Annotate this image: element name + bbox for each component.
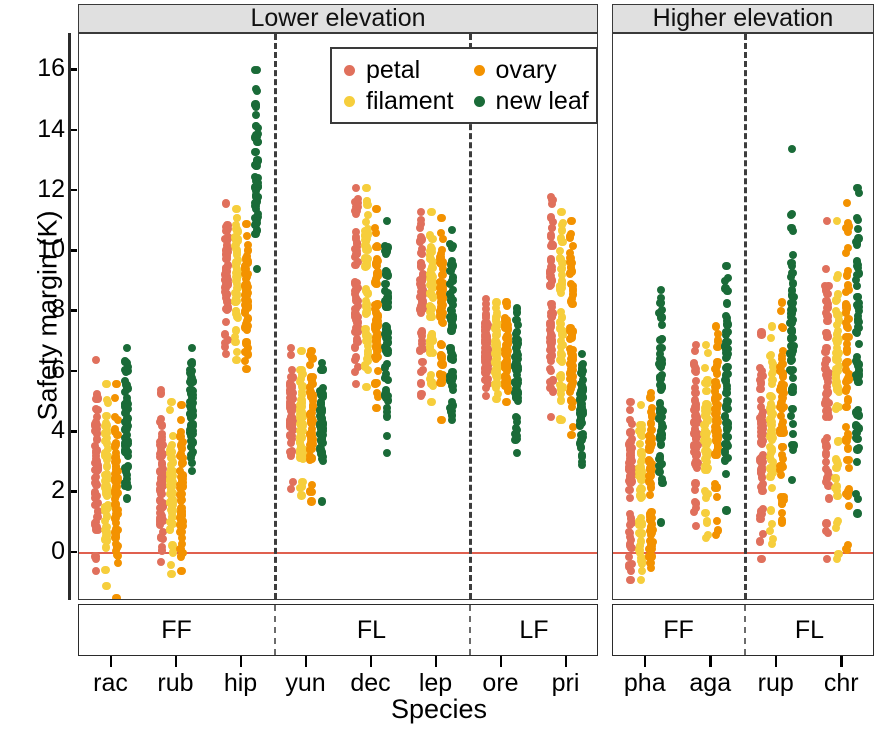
data-point [821, 348, 829, 356]
data-point [438, 360, 446, 368]
data-point [546, 269, 554, 277]
data-point [252, 219, 260, 227]
data-point [787, 259, 795, 267]
x-tick-label-dec: dec [350, 670, 390, 696]
legend-item-new-leaf[interactable]: new leaf [474, 86, 589, 116]
data-point [103, 439, 111, 447]
data-point [223, 225, 231, 233]
data-point [723, 299, 731, 307]
data-point [758, 482, 766, 490]
data-point [383, 432, 391, 440]
data-point [92, 567, 100, 575]
data-point [167, 561, 175, 569]
data-point [372, 205, 380, 213]
data-point [178, 519, 186, 527]
data-point [437, 416, 445, 424]
y-tick-label: 0 [19, 539, 65, 564]
data-point [372, 333, 380, 341]
legend-label: ovary [496, 55, 557, 85]
data-point [383, 217, 391, 225]
data-point [853, 237, 861, 245]
legend-item-ovary[interactable]: ovary [474, 55, 589, 85]
x-tick-mark [435, 656, 438, 667]
data-point [112, 594, 120, 600]
data-point [167, 570, 175, 578]
data-point [502, 298, 510, 306]
y-tick-label: 12 [19, 177, 65, 202]
data-point [428, 235, 436, 243]
data-point [768, 446, 776, 454]
data-point [188, 467, 196, 475]
data-point [832, 524, 840, 532]
data-point [297, 421, 305, 429]
data-point [833, 457, 841, 465]
data-point [317, 390, 325, 398]
data-point [166, 406, 174, 414]
data-point [221, 330, 229, 338]
data-point [158, 490, 166, 498]
data-point [93, 406, 101, 414]
data-point [557, 208, 565, 216]
data-point [287, 344, 295, 352]
data-point [513, 328, 521, 336]
data-point [123, 384, 131, 392]
data-point [722, 470, 730, 478]
data-point [658, 475, 666, 483]
data-point [189, 438, 197, 446]
data-point [288, 395, 296, 403]
data-point [645, 443, 653, 451]
data-point [373, 255, 381, 263]
data-point [833, 385, 841, 393]
data-point [855, 340, 863, 348]
data-point [843, 271, 851, 279]
data-point [177, 567, 185, 575]
data-point [101, 504, 109, 512]
data-point [102, 523, 110, 531]
data-point [853, 509, 861, 517]
data-point [844, 397, 852, 405]
data-point [638, 567, 646, 575]
data-point [789, 227, 797, 235]
data-point [767, 334, 775, 342]
data-point [318, 497, 326, 505]
legend-item-petal[interactable]: petal [344, 55, 454, 85]
data-point [382, 250, 390, 258]
chart-figure: Safety margin (K) 0246810121416 Lower el… [0, 0, 878, 732]
data-point [372, 404, 380, 412]
data-point [637, 492, 645, 500]
data-point [492, 395, 500, 403]
data-point [713, 493, 721, 501]
data-point [844, 444, 852, 452]
data-point [384, 376, 392, 384]
data-point [701, 364, 709, 372]
data-point [711, 484, 719, 492]
data-point [556, 318, 564, 326]
data-point [766, 352, 774, 360]
data-point [756, 515, 764, 523]
data-point [626, 494, 634, 502]
data-point [722, 262, 730, 270]
data-point [568, 267, 576, 275]
data-point [224, 261, 232, 269]
data-point [253, 66, 261, 74]
data-point [569, 242, 577, 250]
data-point [567, 297, 575, 305]
data-point [437, 214, 445, 222]
data-point [448, 350, 456, 358]
x-tick-label-hip: hip [224, 670, 257, 696]
data-point [417, 288, 425, 296]
data-point [417, 392, 425, 400]
data-point [383, 449, 391, 457]
data-point [416, 224, 424, 232]
data-point [834, 290, 842, 298]
data-point [647, 389, 655, 397]
data-point [287, 373, 295, 381]
data-point [439, 260, 447, 268]
data-point [361, 241, 369, 249]
x-tick-label-rup: rup [758, 670, 794, 696]
x-tick-mark [110, 656, 113, 667]
x-tick-label-rub: rub [157, 670, 193, 696]
data-point [853, 458, 861, 466]
data-point [158, 421, 166, 429]
data-point [418, 245, 426, 253]
data-point [177, 401, 185, 409]
data-point [789, 306, 797, 314]
data-point [352, 209, 360, 217]
data-point [547, 413, 555, 421]
data-point [157, 437, 165, 445]
data-point [777, 307, 785, 315]
data-point [759, 505, 767, 513]
data-point [354, 338, 362, 346]
data-point [242, 338, 250, 346]
data-point [111, 533, 119, 541]
data-point [178, 454, 186, 462]
data-point [768, 484, 776, 492]
data-point [843, 384, 851, 392]
x-tick-label-rac: rac [93, 670, 128, 696]
data-point [713, 451, 721, 459]
data-point [94, 394, 102, 402]
data-point [157, 534, 165, 542]
legend-swatch-petal-icon [344, 65, 355, 76]
facet-strip-label: Lower elevation [78, 4, 598, 33]
data-point [92, 555, 100, 563]
data-point [647, 523, 655, 531]
data-point [437, 292, 445, 300]
data-point [317, 450, 325, 458]
legend-label: filament [366, 86, 454, 116]
data-point [835, 349, 843, 357]
data-point [428, 330, 436, 338]
data-point [704, 437, 712, 445]
data-point [578, 381, 586, 389]
data-point [427, 398, 435, 406]
data-point [438, 341, 446, 349]
data-point [757, 466, 765, 474]
data-point [481, 323, 489, 331]
data-point [121, 377, 129, 385]
data-point [547, 323, 555, 331]
data-point [157, 558, 165, 566]
data-point [449, 386, 457, 394]
x-tick-label-aga: aga [689, 670, 731, 696]
data-point [757, 420, 765, 428]
x-tick-mark [305, 656, 308, 667]
data-point [692, 341, 700, 349]
data-point [244, 350, 252, 358]
data-point [513, 449, 521, 457]
data-point [188, 360, 196, 368]
data-point [296, 448, 304, 456]
data-point [231, 338, 239, 346]
x-tick-mark [709, 656, 712, 667]
x-tick-mark [370, 656, 373, 667]
legend-swatch-new-leaf-icon [474, 96, 485, 107]
data-point [778, 451, 786, 459]
data-point [768, 520, 776, 528]
data-point [513, 304, 521, 312]
data-point [502, 398, 510, 406]
data-point [658, 359, 666, 367]
data-point [417, 262, 425, 270]
data-point [822, 329, 830, 337]
data-point [843, 199, 851, 207]
data-point [242, 365, 250, 373]
data-point [833, 274, 841, 282]
data-point [845, 222, 853, 230]
data-point [834, 438, 842, 446]
data-point [567, 217, 575, 225]
data-point [384, 338, 392, 346]
x-tick-label-pha: pha [624, 670, 666, 696]
facet-strip-label: Higher elevation [612, 4, 874, 33]
data-point [362, 310, 370, 318]
data-point [626, 406, 634, 414]
data-point [724, 423, 732, 431]
data-point [658, 423, 666, 431]
data-point [757, 328, 765, 336]
data-point [253, 265, 261, 273]
data-point [569, 282, 577, 290]
data-point [722, 312, 730, 320]
data-point [757, 555, 765, 563]
data-point [853, 329, 861, 337]
data-point [822, 519, 830, 527]
y-tick-label: 2 [19, 478, 65, 503]
data-point [252, 148, 260, 156]
data-point [308, 454, 316, 462]
data-point [121, 425, 129, 433]
data-point [657, 440, 665, 448]
data-point [176, 491, 184, 499]
data-point [790, 441, 798, 449]
data-point [569, 355, 577, 363]
data-point [102, 582, 110, 590]
data-point [448, 226, 456, 234]
data-point [768, 540, 776, 548]
data-point [723, 320, 731, 328]
data-point [768, 322, 776, 330]
data-point [834, 338, 842, 346]
legend-swatch-ovary-icon [474, 65, 485, 76]
legend-item-filament[interactable]: filament [344, 86, 454, 116]
data-point [831, 484, 839, 492]
data-point [566, 232, 574, 240]
data-point [416, 305, 424, 313]
data-point [778, 518, 786, 526]
data-point [547, 357, 555, 365]
data-point [383, 412, 391, 420]
data-point [512, 316, 520, 324]
data-point [702, 450, 710, 458]
data-point [374, 313, 382, 321]
data-point [188, 403, 196, 411]
data-point [788, 385, 796, 393]
data-point [253, 180, 261, 188]
data-point [658, 335, 666, 343]
data-point [854, 225, 862, 233]
data-point [822, 356, 830, 364]
data-point [101, 566, 109, 574]
data-point [253, 159, 261, 167]
data-point [297, 491, 305, 499]
data-point [502, 350, 510, 358]
data-point [788, 326, 796, 334]
data-point [834, 517, 842, 525]
data-point [427, 208, 435, 216]
data-point [222, 350, 230, 358]
data-point [657, 286, 665, 294]
data-point [832, 373, 840, 381]
data-point [418, 358, 426, 366]
data-point [776, 462, 784, 470]
data-point [307, 374, 315, 382]
data-point [94, 464, 102, 472]
data-point [232, 205, 240, 213]
data-point [626, 576, 634, 584]
data-point [252, 111, 260, 119]
y-tick-label: 8 [19, 297, 65, 322]
x-tick-label-chr: chr [824, 670, 859, 696]
data-point [382, 270, 390, 278]
data-point [354, 297, 362, 305]
data-point [111, 394, 119, 402]
data-point [854, 318, 862, 326]
x-tick-mark [240, 656, 243, 667]
data-point [723, 363, 731, 371]
data-point [824, 406, 832, 414]
data-point [253, 193, 261, 201]
plot-panel [612, 33, 874, 600]
legend-swatch-filament-icon [344, 96, 355, 107]
data-point [287, 351, 295, 359]
data-point [566, 345, 574, 353]
data-point [713, 369, 721, 377]
data-point [657, 518, 665, 526]
data-point [779, 381, 787, 389]
data-point [123, 403, 131, 411]
y-tick-label: 6 [19, 358, 65, 383]
data-point [845, 502, 853, 510]
data-point [702, 387, 710, 395]
data-point [156, 467, 164, 475]
data-point [832, 365, 840, 373]
data-point [787, 356, 795, 364]
data-point [558, 341, 566, 349]
data-point [307, 497, 315, 505]
data-point [93, 435, 101, 443]
data-point [852, 490, 860, 498]
data-point [169, 507, 177, 515]
x-tick-mark [565, 656, 568, 667]
data-point [557, 396, 565, 404]
data-point [307, 347, 315, 355]
data-point [233, 273, 241, 281]
data-point [447, 260, 455, 268]
data-point [361, 361, 369, 369]
data-point [646, 491, 654, 499]
data-point [577, 436, 585, 444]
data-point [567, 431, 575, 439]
data-point [788, 476, 796, 484]
data-point [297, 366, 305, 374]
data-point [713, 401, 721, 409]
data-point [318, 359, 326, 367]
data-point [373, 273, 381, 281]
data-point [481, 333, 489, 341]
data-point [241, 323, 249, 331]
data-point [778, 500, 786, 508]
data-point [788, 286, 796, 294]
data-point [647, 564, 655, 572]
data-point [854, 216, 862, 224]
data-point [713, 517, 721, 525]
data-point [177, 416, 185, 424]
data-point [549, 387, 557, 395]
data-point [222, 305, 230, 313]
data-point [557, 374, 565, 382]
data-point [842, 249, 850, 257]
data-point [297, 347, 305, 355]
data-point [723, 287, 731, 295]
data-point [845, 464, 853, 472]
group-label-ff: FF [79, 605, 274, 655]
data-point [352, 380, 360, 388]
data-point [692, 377, 700, 385]
data-point [767, 506, 775, 514]
data-point [188, 344, 196, 352]
data-point [577, 391, 585, 399]
group-strip: FFFLLF [78, 604, 598, 656]
data-point [504, 340, 512, 348]
data-point [822, 265, 830, 273]
data-point [821, 365, 829, 373]
legend: petalovaryfilamentnew leaf [330, 47, 598, 124]
data-point [842, 308, 850, 316]
data-point [833, 555, 841, 563]
data-point [384, 289, 392, 297]
data-point [501, 379, 509, 387]
data-point [789, 430, 797, 438]
data-point [823, 217, 831, 225]
data-point [825, 494, 833, 502]
data-point [843, 348, 851, 356]
